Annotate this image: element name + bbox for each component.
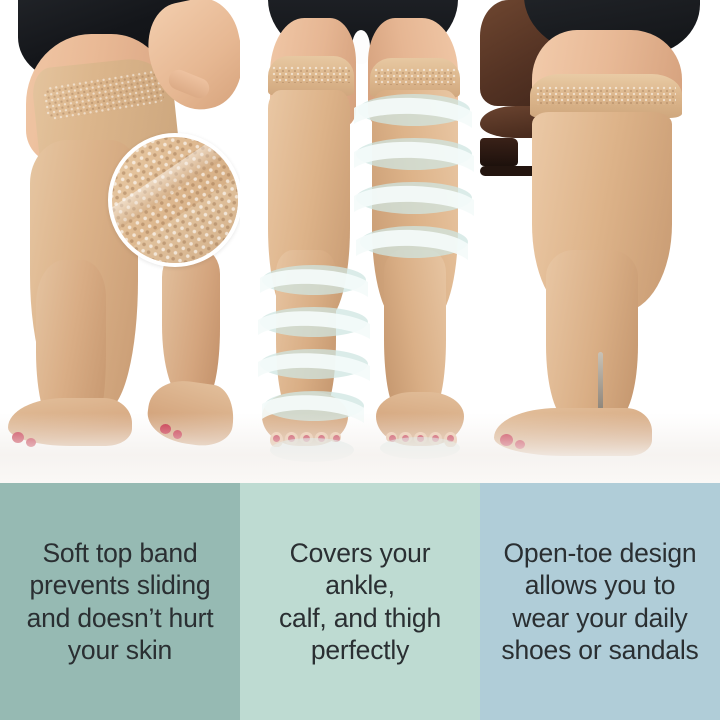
caption-panel-open-toe: Open-toe design allows you to wear your …: [480, 483, 720, 720]
photo-open-toe-with-boot: [480, 0, 720, 483]
silicone-dot-texture-left: [272, 66, 350, 83]
floor-gradient: [480, 413, 720, 483]
stockinged-calf-left: [276, 250, 336, 410]
product-feature-collage: Soft top band prevents sliding and doesn…: [0, 0, 720, 720]
silicone-dot-texture: [536, 86, 676, 105]
photo-strip: [0, 0, 720, 483]
floor-gradient: [0, 413, 240, 483]
photo-legs-with-compression-spirals: [240, 0, 480, 483]
photo-hand-pulling-top-band: [0, 0, 240, 483]
magnifier-inset-circle: [108, 133, 240, 267]
silicone-dot-texture-right: [374, 68, 456, 85]
stockinged-calf-right: [384, 250, 446, 410]
floor-gradient: [240, 413, 480, 483]
caption-text-soft-top-band: Soft top band prevents sliding and doesn…: [27, 537, 214, 666]
boot-zipper-icon: [598, 352, 603, 410]
caption-panel-soft-top-band: Soft top band prevents sliding and doesn…: [0, 483, 240, 720]
boot-heel: [480, 138, 518, 166]
caption-panel-coverage: Covers your ankle, calf, and thigh perfe…: [240, 483, 480, 720]
caption-strip: Soft top band prevents sliding and doesn…: [0, 483, 720, 720]
stockinged-rear-leg: [162, 250, 220, 400]
caption-text-open-toe: Open-toe design allows you to wear your …: [501, 537, 698, 666]
stockinged-calf: [546, 250, 638, 420]
caption-text-coverage: Covers your ankle, calf, and thigh perfe…: [252, 537, 468, 666]
